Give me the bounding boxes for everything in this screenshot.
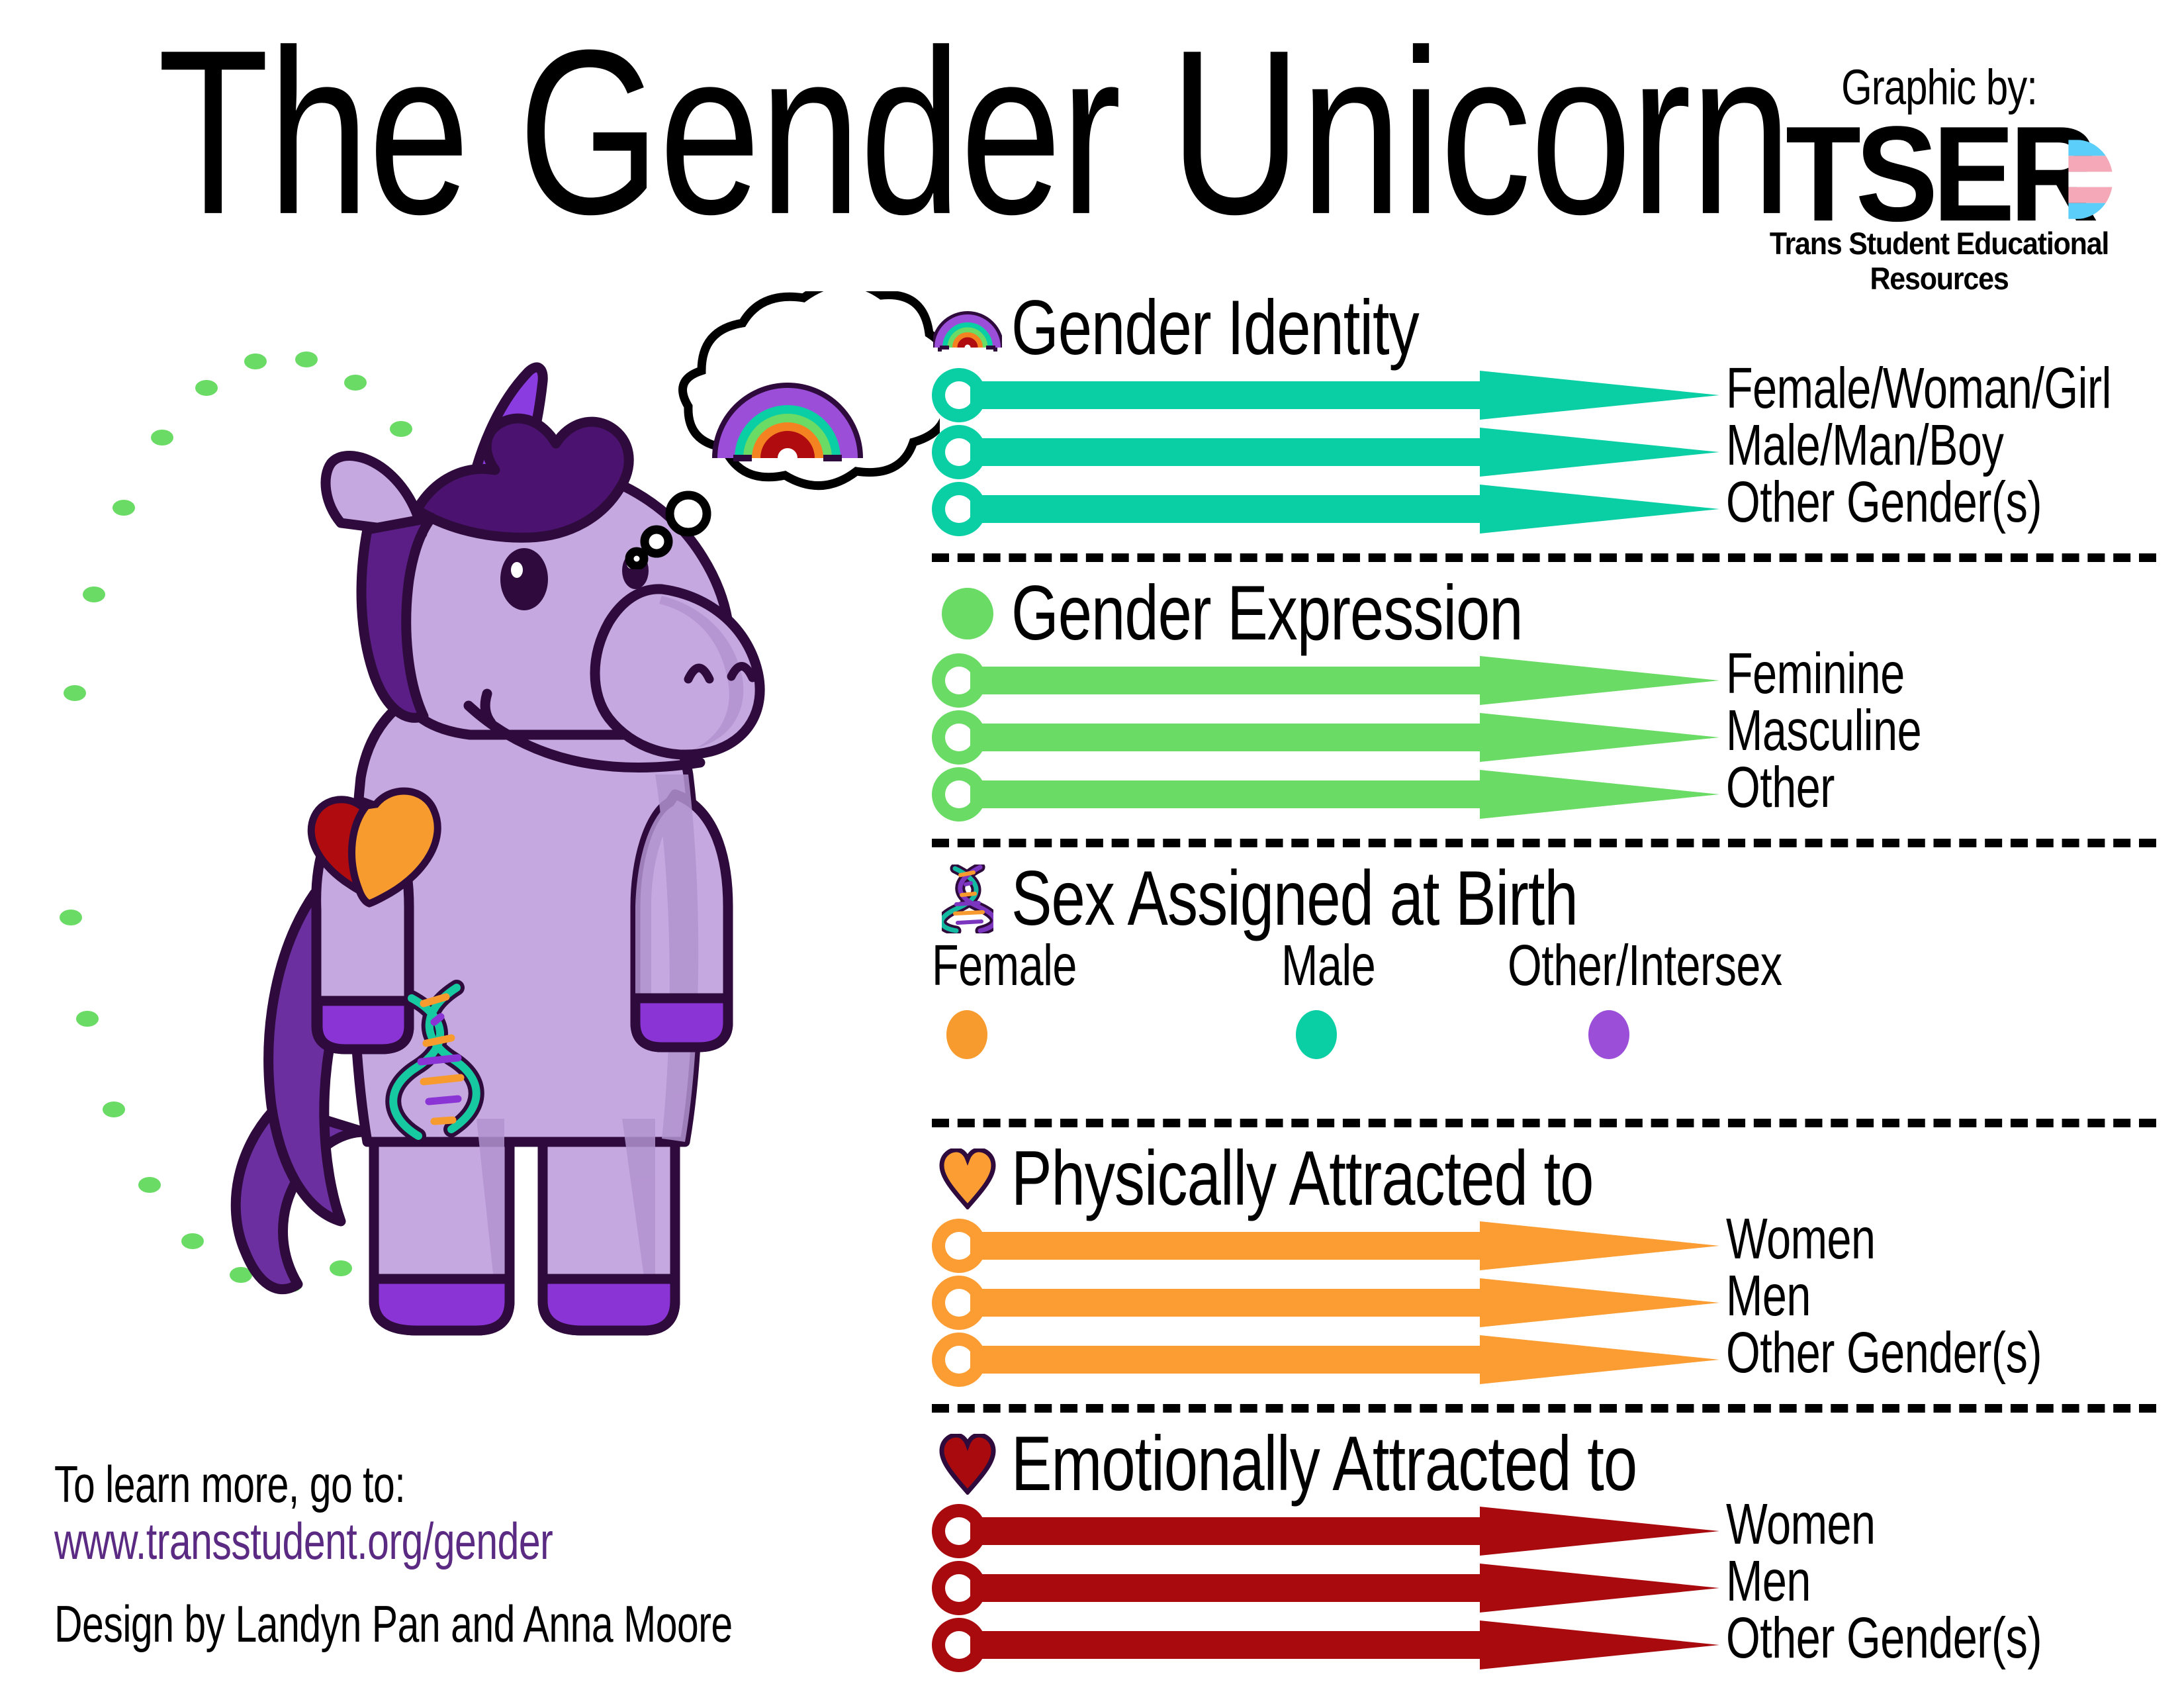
section-title: Sex Assigned at Birth <box>1011 860 1578 937</box>
section-emotionally-attracted-to: Emotionally Attracted to Women Men Other… <box>932 1427 2156 1672</box>
sex-option-dot <box>1588 1010 1629 1059</box>
section-header: Physically Attracted to <box>932 1142 2156 1216</box>
sex-option[interactable]: Female <box>932 936 1084 1059</box>
decor-dot <box>151 430 173 445</box>
scale-label: Other <box>1726 758 1835 816</box>
section-gender-expression: Gender Expression Feminine Masculine Oth… <box>932 577 2156 821</box>
decor-dot <box>60 910 82 925</box>
section-title: Physically Attracted to <box>1011 1140 1593 1217</box>
decor-dot <box>113 500 135 516</box>
design-credit: Design by Landyn Pan and Anna Moore <box>54 1595 733 1654</box>
scale-row[interactable]: Other Gender(s) <box>932 1333 2156 1387</box>
sex-option[interactable]: Male <box>1281 936 1381 1059</box>
scale-label: Other Gender(s) <box>1726 1323 2042 1382</box>
green-circle-icon <box>932 582 1003 645</box>
orange-heart-icon <box>932 1147 1003 1211</box>
scale-row[interactable]: Women <box>932 1219 2156 1273</box>
scale-label: Men <box>1726 1552 1811 1610</box>
content-sections: Gender Identity Female/Woman/Girl Male/M… <box>932 291 2156 1672</box>
sex-option-dot <box>1296 1010 1337 1059</box>
scale-label: Women <box>1726 1209 1876 1268</box>
dna-icon <box>932 867 1003 931</box>
scale-label: Female/Woman/Girl <box>1726 359 2111 417</box>
section-divider <box>932 553 2156 562</box>
section-title: Emotionally Attracted to <box>1011 1425 1637 1503</box>
section-divider <box>932 1119 2156 1127</box>
scale-row[interactable]: Other <box>932 767 2156 821</box>
red-heart-icon <box>932 1432 1003 1496</box>
sex-options: Female Male Other/Intersex <box>932 936 2156 1115</box>
page-title: The Gender Unicorn <box>158 19 1558 261</box>
scale-label: Feminine <box>1726 644 1905 702</box>
sex-option-label: Male <box>1281 936 1375 994</box>
decor-dot <box>103 1102 125 1117</box>
sex-option[interactable]: Other/Intersex <box>1508 936 1797 1059</box>
scale-label: Men <box>1726 1266 1811 1325</box>
scale-row[interactable]: Other Gender(s) <box>932 482 2156 536</box>
section-header: Sex Assigned at Birth <box>932 862 2156 936</box>
section-gender-identity: Gender Identity Female/Woman/Girl Male/M… <box>932 291 2156 536</box>
section-divider <box>932 839 2156 847</box>
section-physically-attracted-to: Physically Attracted to Women Men Other … <box>932 1142 2156 1387</box>
thought-bubble <box>622 291 940 569</box>
tser-subtitle: Trans Student Educational Resources <box>1721 226 2158 297</box>
decor-dot <box>64 685 86 701</box>
scale-label: Masculine <box>1726 701 1921 759</box>
tser-acronym: TSER <box>1786 113 2093 235</box>
scale-row[interactable]: Feminine <box>932 653 2156 708</box>
scale-row[interactable]: Women <box>932 1504 2156 1558</box>
section-header: Gender Expression <box>932 577 2156 651</box>
sex-option-dot <box>946 1010 987 1059</box>
section-title: Gender Identity <box>1011 289 1419 367</box>
section-header: Gender Identity <box>932 291 2156 365</box>
decor-dot <box>83 586 105 602</box>
scale-label: Other Gender(s) <box>1726 473 2042 531</box>
rainbow-icon <box>932 297 1003 360</box>
sex-option-label: Female <box>932 936 1077 994</box>
tser-logo: Graphic by: TSER Trans Student Education… <box>1721 63 2158 293</box>
section-title: Gender Expression <box>1011 575 1523 652</box>
scale-label: Male/Man/Boy <box>1726 416 2003 474</box>
section-divider <box>932 1404 2156 1413</box>
scale-row[interactable]: Masculine <box>932 710 2156 765</box>
trans-flag-icon <box>2068 140 2113 219</box>
transstudent-url[interactable]: www.transstudent.org/gender <box>54 1507 746 1578</box>
learn-more-block: To learn more, go to: www.transstudent.o… <box>54 1450 782 1564</box>
sex-option-label: Other/Intersex <box>1508 936 1782 994</box>
section-sex-assigned-at-birth: Sex Assigned at Birth Female Male Other/… <box>932 862 2156 1115</box>
scale-row[interactable]: Other Gender(s) <box>932 1618 2156 1672</box>
section-header: Emotionally Attracted to <box>932 1427 2156 1501</box>
scale-label: Other Gender(s) <box>1726 1609 2042 1667</box>
decor-dot <box>138 1177 161 1193</box>
scale-label: Women <box>1726 1495 1876 1553</box>
decor-dot <box>76 1011 99 1027</box>
